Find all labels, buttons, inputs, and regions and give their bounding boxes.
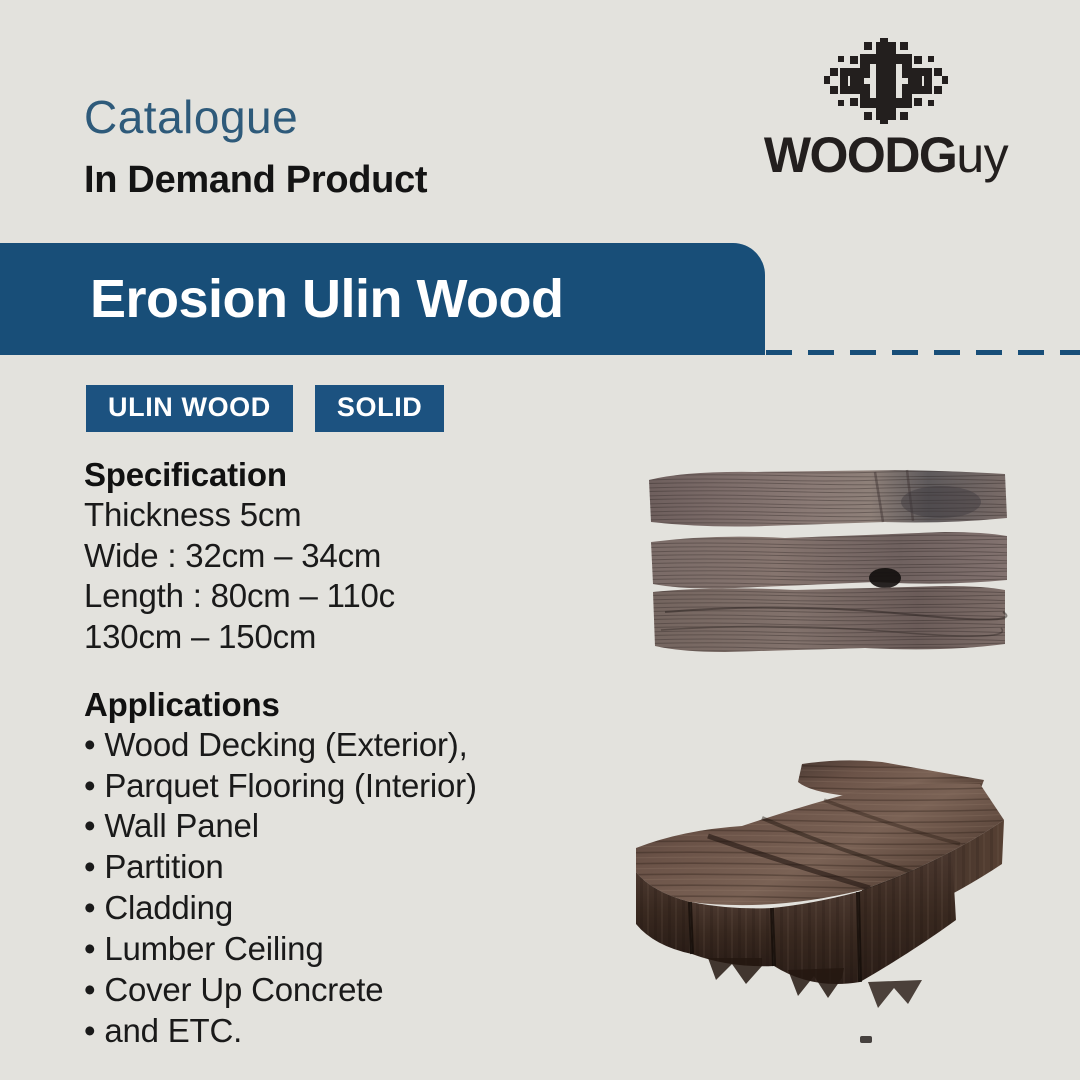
brand-wordmark: WOODGuy xyxy=(764,130,1008,180)
specification-line: Length : 80cm – 110c xyxy=(84,576,604,617)
application-item: • and ETC. xyxy=(84,1011,644,1052)
product-title: Erosion Ulin Wood xyxy=(90,272,563,326)
application-item: • Wood Decking (Exterior), xyxy=(84,725,644,766)
brand-logo: WOODGuy xyxy=(736,38,1036,180)
product-image-beams xyxy=(612,752,1022,1042)
banner-dashed-divider xyxy=(766,350,1080,355)
tribal-pixel-mw-monogram-icon xyxy=(824,38,948,124)
brand-wordmark-light: uy xyxy=(956,127,1008,183)
badge-material: ULIN WOOD xyxy=(86,385,293,432)
application-item: • Lumber Ceiling xyxy=(84,929,644,970)
brand-wordmark-bold: WOODG xyxy=(764,127,956,183)
page-title-catalogue: Catalogue xyxy=(84,94,298,140)
applications-block: Applications • Wood Decking (Exterior), … xyxy=(84,685,644,1052)
application-item: • Cover Up Concrete xyxy=(84,970,644,1011)
specification-line: Wide : 32cm – 34cm xyxy=(84,536,604,577)
product-image-planks xyxy=(645,462,1013,662)
specification-block: Specification Thickness 5cm Wide : 32cm … xyxy=(84,455,604,658)
application-item: • Partition xyxy=(84,847,644,888)
page-subtitle: In Demand Product xyxy=(84,161,427,199)
applications-heading: Applications xyxy=(84,685,644,725)
badge-row: ULIN WOOD SOLID xyxy=(86,385,444,432)
badge-type: SOLID xyxy=(315,385,445,432)
image-artifact-speck xyxy=(860,1036,872,1043)
specification-heading: Specification xyxy=(84,455,604,495)
product-title-banner: Erosion Ulin Wood xyxy=(0,243,765,355)
application-item: • Wall Panel xyxy=(84,806,644,847)
specification-line: Thickness 5cm xyxy=(84,495,604,536)
specification-line: 130cm – 150cm xyxy=(84,617,604,658)
application-item: • Cladding xyxy=(84,888,644,929)
application-item: • Parquet Flooring (Interior) xyxy=(84,766,644,807)
